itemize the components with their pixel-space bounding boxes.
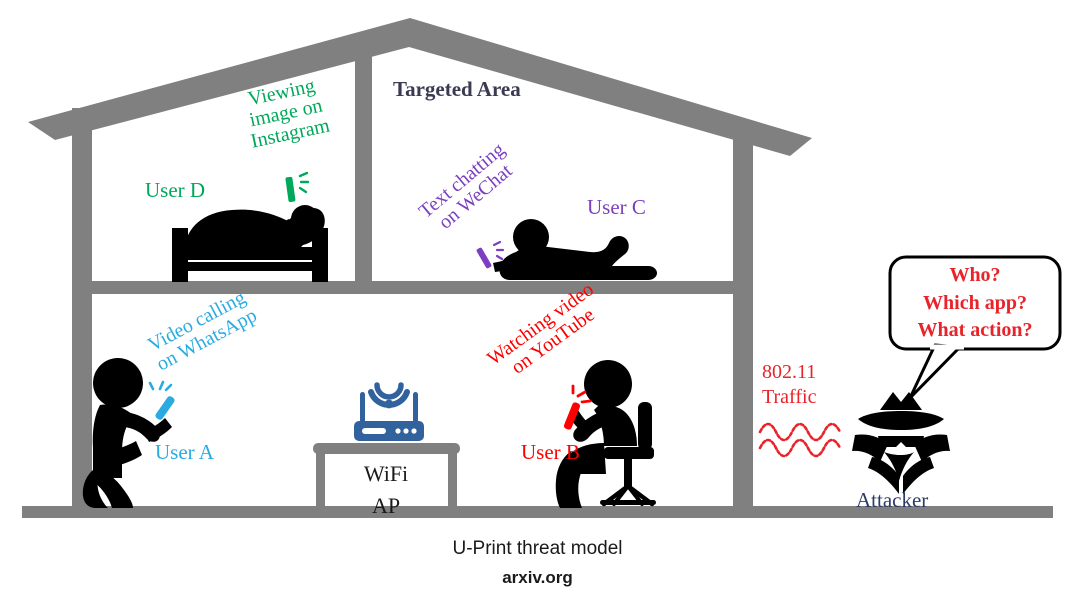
- traffic-label: 802.11 Traffic: [762, 360, 854, 410]
- user-d-phone-icon: [285, 173, 308, 202]
- user-b-label: User B: [521, 440, 580, 465]
- figure-caption: U-Print threat model: [0, 538, 1075, 560]
- user-d-label: User D: [145, 178, 205, 203]
- user-a-label: User A: [155, 440, 214, 465]
- wifi-ap-label: WiFi AP: [336, 458, 436, 522]
- traffic-label-line-1: 802.11: [762, 360, 854, 385]
- user-a-figure: [83, 358, 172, 508]
- bubble-line-what-action: What action?: [892, 317, 1058, 345]
- bubble-line-which-app: Which app?: [892, 290, 1058, 318]
- attacker-question-bubble-text: Who? Which app? What action?: [892, 262, 1058, 345]
- bubble-line-who: Who?: [892, 262, 1058, 290]
- traffic-label-line-2: Traffic: [762, 385, 854, 410]
- sine-wave-icon: [760, 424, 840, 456]
- wall-left-outer: [72, 108, 92, 512]
- wifi-ap-label-line-1: WiFi: [336, 458, 436, 490]
- wall-interior-upper: [355, 50, 372, 292]
- targeted-area-label: Targeted Area: [393, 77, 521, 102]
- user-c-label: User C: [587, 195, 646, 220]
- floor-middle: [72, 281, 753, 294]
- spy-icon: [852, 392, 950, 494]
- attacker-label: Attacker: [856, 488, 928, 513]
- figure-source: arxiv.org: [0, 568, 1075, 588]
- user-a-phone-icon: [150, 382, 176, 421]
- figure-canvas: Targeted Area User D Viewing image on In…: [0, 0, 1075, 614]
- wifi-router-icon: [354, 385, 424, 441]
- wall-right-outer: [733, 128, 753, 512]
- user-c-figure: [493, 219, 657, 280]
- wifi-ap-label-line-2: AP: [336, 490, 436, 522]
- bed-icon: [172, 205, 328, 282]
